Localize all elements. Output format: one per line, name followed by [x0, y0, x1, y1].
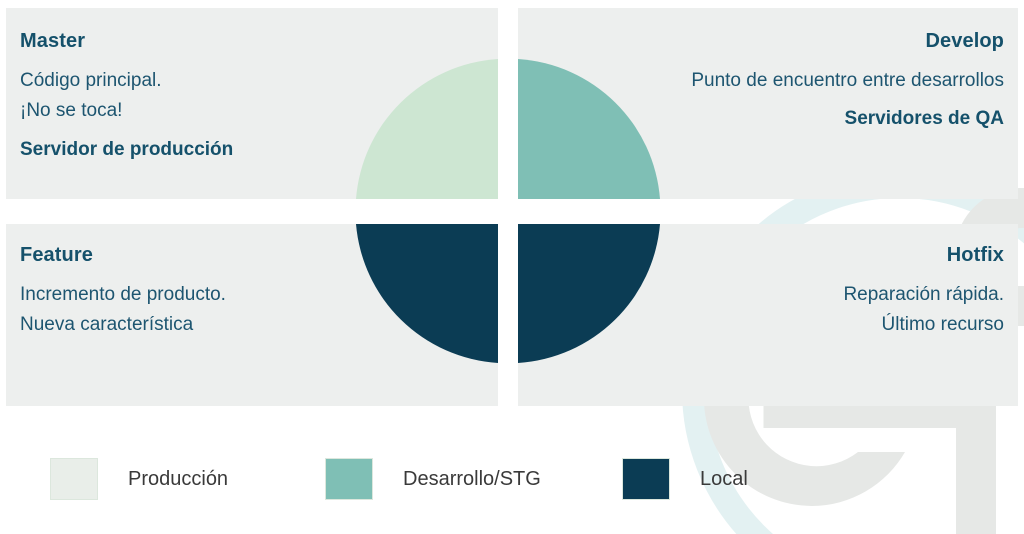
- quadrant-hotfix-line-2: Último recurso: [664, 310, 1004, 340]
- quadrant-master-text: Master Código principal. ¡No se toca! Se…: [20, 28, 233, 165]
- quadrant-hotfix-title: Hotfix: [664, 242, 1004, 268]
- legend-swatch-produccion: [50, 458, 98, 500]
- quadrant-develop-title: Develop: [664, 28, 1004, 54]
- legend: Producción Desarrollo/STG Local: [0, 452, 1024, 512]
- quadrant-feature[interactable]: Feature Incremento de producto. Nueva ca…: [6, 224, 498, 406]
- quadrant-master-title: Master: [20, 28, 233, 54]
- quadrant-feature-text: Feature Incremento de producto. Nueva ca…: [20, 242, 226, 340]
- legend-swatch-local: [622, 458, 670, 500]
- quadrant-develop-line-2: Servidores de QA: [664, 104, 1004, 134]
- legend-swatch-desarrollo-stg: [325, 458, 373, 500]
- quadrant-master[interactable]: Master Código principal. ¡No se toca! Se…: [6, 8, 498, 199]
- quadrant-grid: Master Código principal. ¡No se toca! Se…: [6, 8, 1018, 406]
- quadrant-feature-line-1: Incremento de producto.: [20, 280, 226, 310]
- quadrant-develop-line-1: Punto de encuentro entre desarrollos: [664, 66, 1004, 95]
- quadrant-feature-line-2: Nueva característica: [20, 310, 226, 340]
- legend-item-desarrollo-stg[interactable]: Desarrollo/STG: [325, 452, 541, 506]
- quadrant-develop[interactable]: Develop Punto de encuentro entre desarro…: [518, 8, 1018, 199]
- legend-label-produccion: Producción: [128, 467, 228, 491]
- quadrant-master-line-2: ¡No se toca!: [20, 96, 233, 126]
- legend-label-desarrollo-stg: Desarrollo/STG: [403, 467, 541, 491]
- quadrant-hotfix-text: Hotfix Reparación rápida. Último recurso: [664, 242, 1004, 340]
- quadrant-hotfix[interactable]: Hotfix Reparación rápida. Último recurso: [518, 224, 1018, 406]
- quadrant-hotfix-line-1: Reparación rápida.: [664, 280, 1004, 310]
- quadrant-master-line-3: Servidor de producción: [20, 135, 233, 165]
- quadrant-develop-text: Develop Punto de encuentro entre desarro…: [664, 28, 1004, 134]
- legend-item-local[interactable]: Local: [622, 452, 748, 506]
- legend-item-produccion[interactable]: Producción: [50, 452, 228, 506]
- quadrant-feature-title: Feature: [20, 242, 226, 268]
- quadrant-master-line-1: Código principal.: [20, 66, 233, 96]
- legend-label-local: Local: [700, 467, 748, 491]
- diagram-canvas: Master Código principal. ¡No se toca! Se…: [0, 0, 1024, 534]
